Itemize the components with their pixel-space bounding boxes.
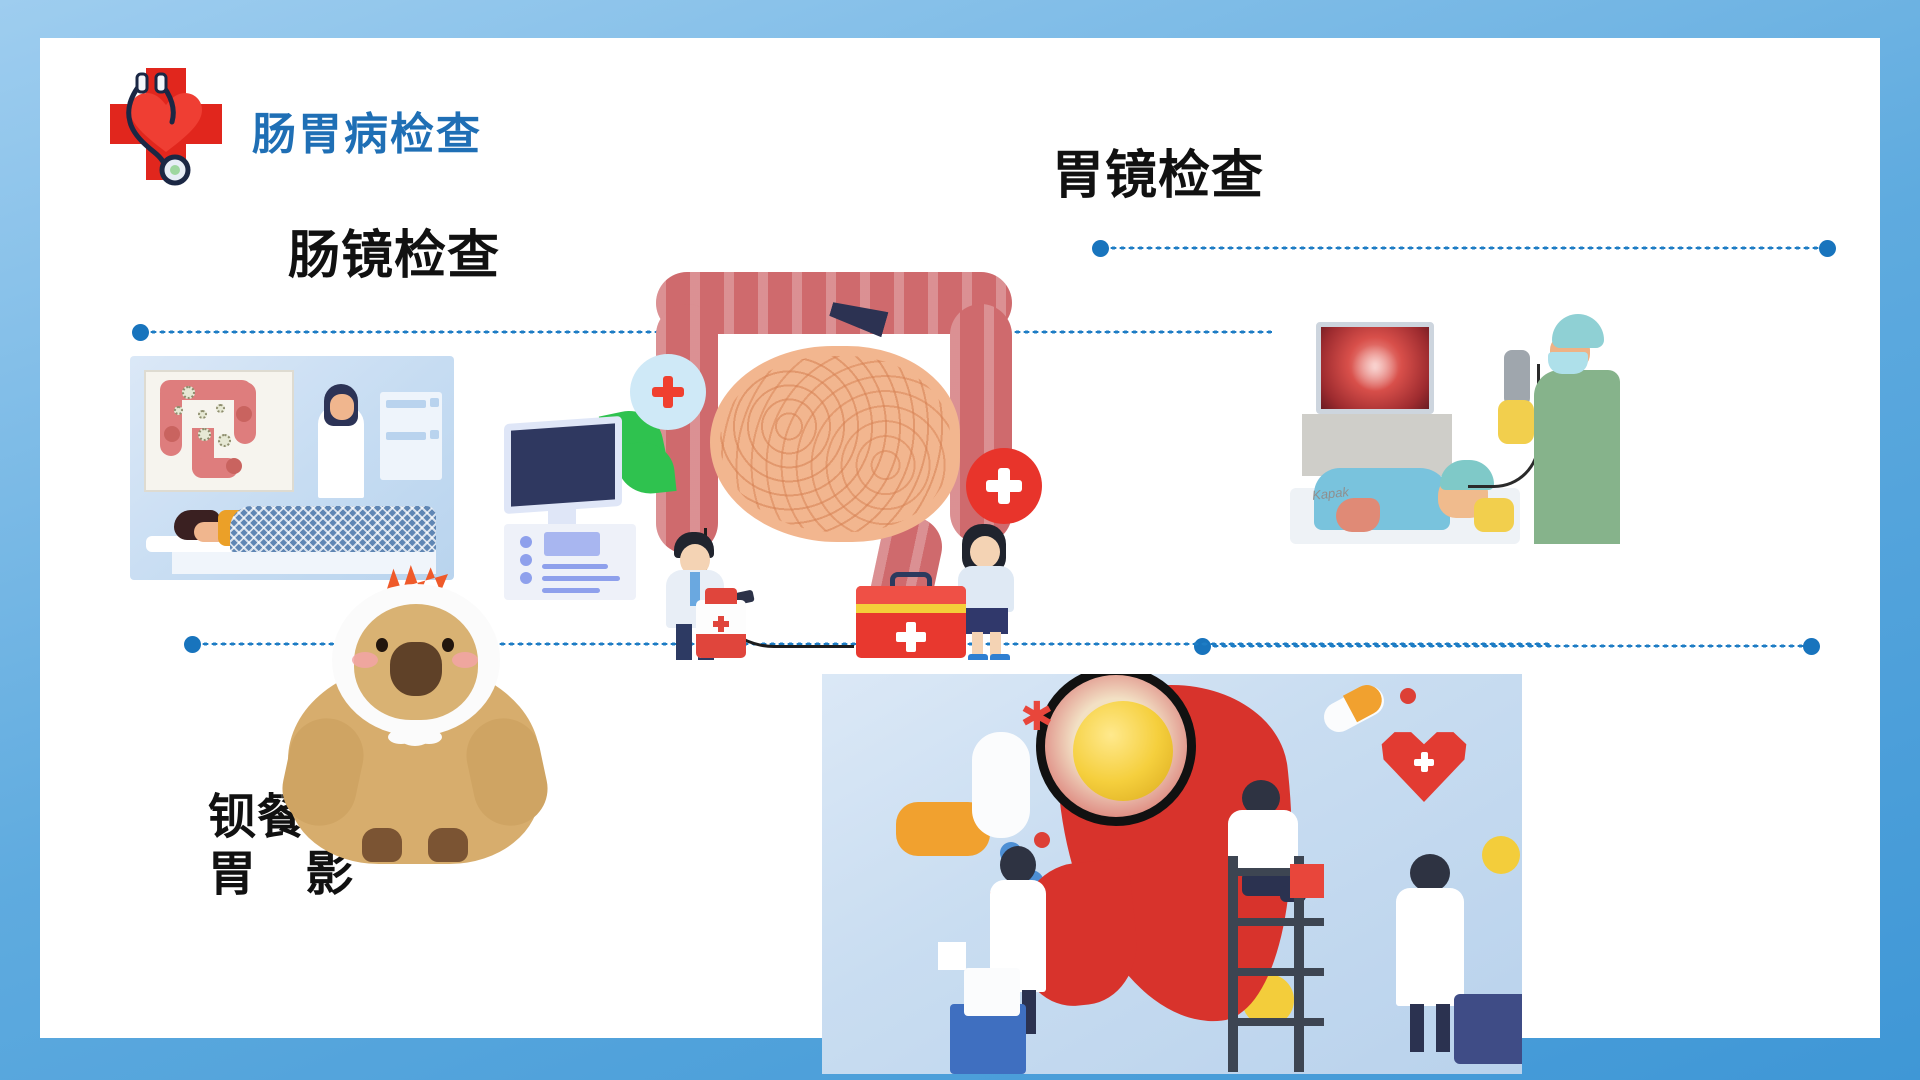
surgeon-green-scrubs bbox=[1516, 308, 1622, 544]
connector-dot-left bbox=[1194, 638, 1211, 655]
dotted-line bbox=[1100, 246, 1828, 250]
connector-dot-right bbox=[1819, 240, 1836, 257]
gastroscopy-procedure-watercolor: Kapak bbox=[1272, 300, 1628, 550]
connector-dot-left bbox=[1092, 240, 1109, 257]
intestine-anatomy-illustration bbox=[492, 260, 1052, 660]
medical-equipment bbox=[380, 392, 442, 480]
h-pylori-bacteria bbox=[1073, 701, 1173, 801]
red-cross-badge-blue bbox=[630, 354, 706, 430]
red-cross-heart-stethoscope-logo bbox=[102, 60, 230, 188]
connector-gastroscopy bbox=[1100, 246, 1828, 250]
colon-diagram-poster bbox=[144, 370, 294, 492]
page-title: 肠胃病检查 bbox=[252, 98, 482, 162]
connector-dot-right bbox=[1803, 638, 1820, 655]
first-aid-case bbox=[1454, 994, 1522, 1064]
asterisk-icon: ✱ bbox=[1020, 702, 1054, 736]
section-label-colonoscopy: 肠镜检查 bbox=[288, 226, 500, 287]
patient-on-bed bbox=[138, 504, 438, 574]
hood-knot bbox=[398, 724, 432, 746]
first-aid-kit bbox=[856, 586, 966, 658]
small-intestine bbox=[710, 346, 960, 542]
colonoscopy-doctor bbox=[318, 406, 364, 498]
white-cross-icon bbox=[938, 942, 966, 970]
endoscope-monitor bbox=[504, 420, 636, 600]
medicine-bottle bbox=[964, 968, 1020, 1016]
connector-dot-left bbox=[184, 636, 201, 653]
capybara-snout bbox=[390, 642, 442, 696]
slide-header: 肠胃病检查 bbox=[66, 50, 766, 180]
endoscopy-monitor bbox=[1316, 322, 1434, 414]
connector-dot-left bbox=[132, 324, 149, 341]
capsule-white bbox=[972, 732, 1030, 838]
slide-background: 肠胃病检查 肠镜检查 胃镜检查 尿素C13呼气试验 胃功能四项检查 钡餐 胃 影 bbox=[0, 0, 1920, 1080]
slide-canvas: 肠胃病检查 肠镜检查 胃镜检查 尿素C13呼气试验 胃功能四项检查 钡餐 胃 影 bbox=[40, 38, 1880, 1038]
colonoscopy-procedure-illustration bbox=[130, 356, 454, 580]
red-cross-icon bbox=[1290, 864, 1324, 898]
yellow-glove bbox=[1498, 400, 1534, 444]
section-label-gastroscopy: 胃镜检查 bbox=[1052, 146, 1264, 207]
capybara-in-chicken-hood bbox=[280, 578, 550, 868]
heart-ecg-icon bbox=[1378, 712, 1470, 798]
blue-blanket bbox=[230, 506, 436, 552]
red-cross-badge bbox=[966, 448, 1042, 524]
yellow-glove bbox=[1474, 498, 1514, 532]
stomach-h-pylori-illustration: ✱ bbox=[822, 674, 1522, 1074]
medicine-bottle bbox=[696, 600, 746, 658]
